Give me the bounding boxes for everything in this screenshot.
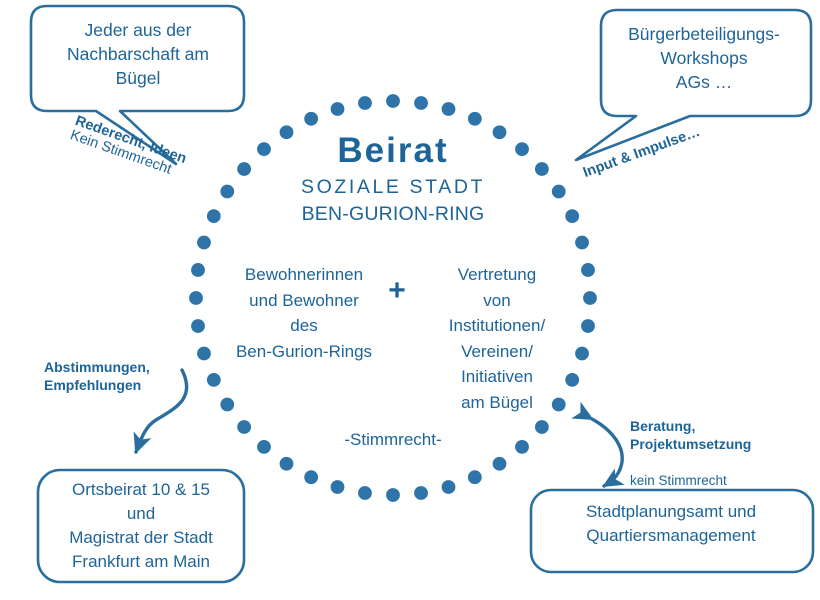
ring-dot [535,162,549,176]
ring-dot [468,112,482,126]
ring-dot [331,102,345,116]
ring-dot [386,488,400,502]
ring-dot [581,263,595,277]
ring-dot [191,263,205,277]
ring-dot [493,125,507,139]
diagram-canvas: Jeder aus der Nachbarschaft am Bügel Bür… [0,0,820,600]
ring-dot [191,319,205,333]
box-text-ortsbeirat: Ortsbeirat 10 & 15 und Magistrat der Sta… [42,478,240,575]
ring-dot [197,236,211,250]
ring-dot [414,486,428,500]
ring-dot [304,112,318,126]
ring-dot [575,347,589,361]
ring-dot [280,457,294,471]
ring-dot [468,470,482,484]
page-subtitle-secondary: BEN-GURION-RING [283,203,503,226]
ring-dot [257,440,271,454]
ring-dot [358,486,372,500]
ring-dot [220,398,234,412]
ring-dot [515,142,529,156]
ring-dot [442,480,456,494]
ring-dot [257,142,271,156]
ring-dot [414,96,428,110]
ring-dot [535,420,549,434]
members-column-residents: Bewohnerinnen und Bewohner des Ben-Gurio… [216,262,392,364]
bubble-text-top-left: Jeder aus der Nachbarschaft am Bügel [40,18,236,90]
ring-dot [220,185,234,199]
ring-dot [515,440,529,454]
bubble-text-top-right: Bürgerbeteiligungs- Workshops AGs … [606,22,802,94]
box-text-stadtplanungsamt: Stadtplanungsamt und Quartiersmanagement [536,500,806,548]
voting-rights-note: -Stimmrecht- [318,430,468,450]
ring-dot [575,236,589,250]
ring-dot [189,291,203,305]
page-title: Beirat [293,130,493,172]
ring-dot [207,209,221,223]
ring-dot [386,94,400,108]
ring-dot [583,291,597,305]
ring-dot [237,162,251,176]
page-subtitle-primary: SOZIALE STADT [283,176,503,199]
arrow-label-beratung-bold: Beratung, Projektumsetzung [630,418,751,452]
arrow-label-beratung-regular: kein Stimmrecht [630,473,727,488]
ring-dot [493,457,507,471]
ring-dot [442,102,456,116]
arrow-label-abstimmungen: Abstimmungen, Empfehlungen [44,359,184,394]
ring-dot [304,470,318,484]
ring-dot [565,209,579,223]
ring-dot [581,319,595,333]
members-column-institutions: Vertretung von Institutionen/ Vereinen/ … [424,262,570,415]
ring-dot [552,185,566,199]
ring-dot [237,420,251,434]
ring-dot [358,96,372,110]
arrow-to-from-stadtplanungsamt [592,419,622,486]
arrow-label-beratung: Beratung, Projektumsetzung kein Stimmrec… [630,400,790,490]
ring-dot [331,480,345,494]
ring-dot [280,125,294,139]
plus-icon: + [383,276,411,306]
ring-dot [207,373,221,387]
ring-dot [197,347,211,361]
